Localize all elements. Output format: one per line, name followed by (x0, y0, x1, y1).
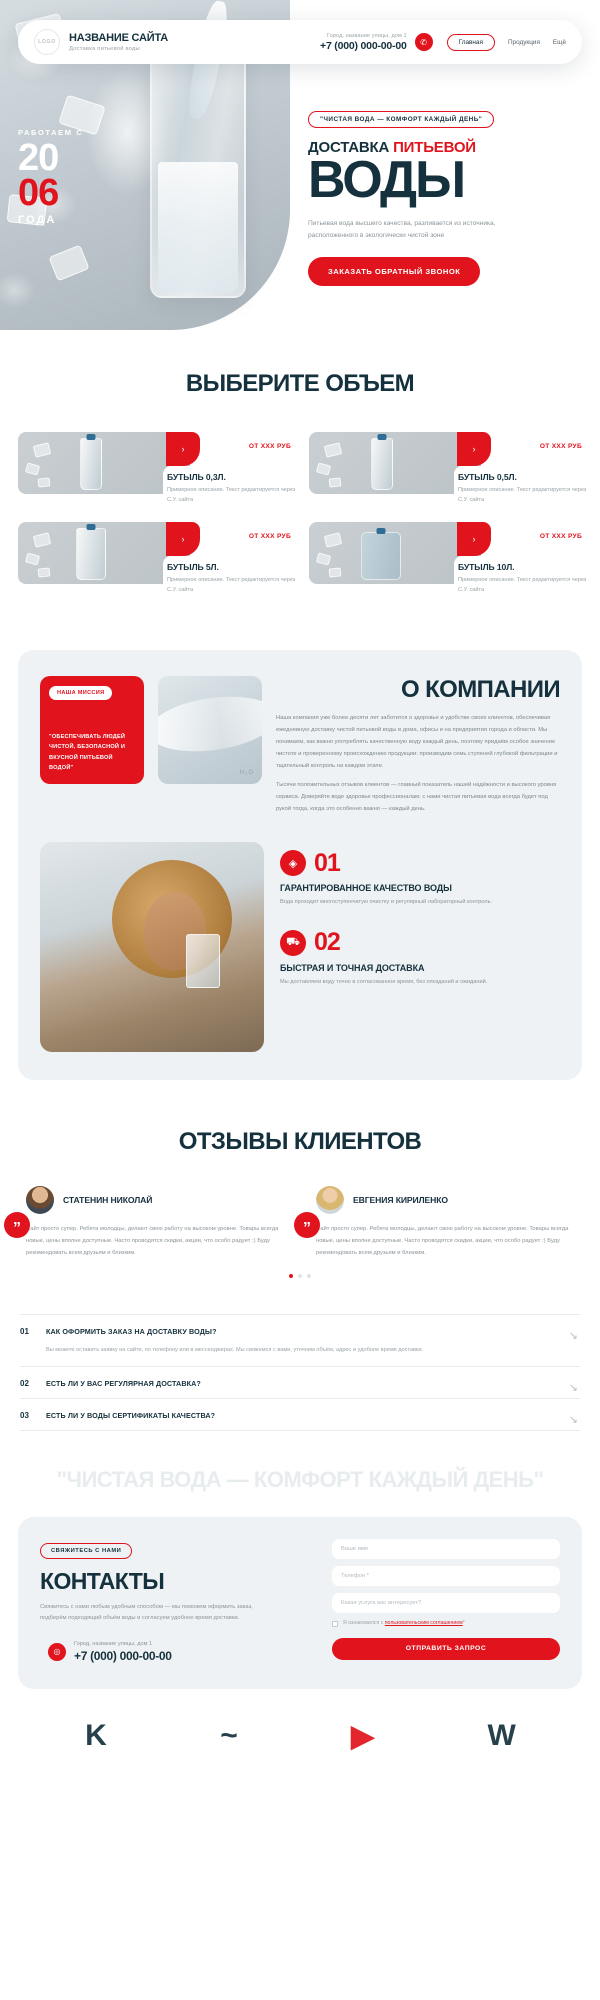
main-nav: Главная Продукция Ещё (447, 34, 566, 51)
feature-title: ГАРАНТИРОВАННОЕ КАЧЕСТВО ВОДЫ (280, 883, 560, 893)
contacts-description: Свяжитесь с нами любым удобным способом … (40, 1602, 256, 1625)
product-card[interactable]: › ОТ XXX РУБ БУТЫЛЬ 5Л. Примерное описан… (18, 522, 291, 598)
product-info: БУТЫЛЬ 0,3Л. Примерное описание. Текст р… (163, 466, 303, 506)
nav-item-more[interactable]: Ещё (553, 39, 566, 46)
brand: НАЗВАНИЕ САЙТА Доставка питьевой воды (69, 32, 168, 52)
product-name: БУТЫЛЬ 0,3Л. (167, 472, 303, 482)
feature-head: ◈ 01 (280, 850, 560, 876)
arrow-down-right-icon[interactable]: ↘ (569, 1329, 578, 1342)
reviews-section: ОТЗЫВЫ КЛИЕНТОВ ” СТАТЕНИН НИКОЛАЙ Сайт … (0, 1128, 600, 1278)
ice-cube (33, 442, 51, 458)
ice-cube (38, 567, 51, 577)
faq-answer: Вы можете оставить заявку на сайте, по т… (20, 1345, 580, 1356)
partner-logo: ~ (220, 1719, 237, 1753)
faq-question-row[interactable]: 03 ЕСТЬ ЛИ У ВОДЫ СЕРТИФИКАТЫ КАЧЕСТВА? (20, 1411, 580, 1420)
chevron-right-icon[interactable]: › (457, 432, 491, 466)
map-pin-icon: ◎ (48, 1643, 66, 1661)
product-name: БУТЫЛЬ 0,5Л. (458, 472, 594, 482)
partner-logo: ▶ (351, 1719, 373, 1754)
review-head: ЕВГЕНИЯ КИРИЛЕНКО (316, 1186, 580, 1214)
slogan-banner: "ЧИСТАЯ ВОДА — КОМФОРТ КАЖДЫЙ ДЕНЬ" (0, 1467, 600, 1493)
contacts-title: КОНТАКТЫ (40, 1568, 312, 1595)
ice-cube (48, 245, 89, 282)
nav-item-products[interactable]: Продукция (508, 39, 540, 46)
about-photo (40, 842, 264, 1052)
ice-cube (25, 462, 40, 475)
contact-form: Ваше имя Телефон * Какая услуга вас инте… (332, 1539, 560, 1663)
feature-desc: Вода проходит многоступенчатую очистку и… (280, 897, 560, 908)
nav-item-home[interactable]: Главная (447, 34, 495, 51)
faq-number: 02 (20, 1379, 32, 1388)
review-text: Сайт просто супер. Ребята молодцы, делаю… (316, 1223, 580, 1260)
carousel-dots (0, 1274, 600, 1278)
hero-since-block: РАБОТАЕМ С 20 06 ГОДА (18, 128, 83, 226)
product-price: ОТ XXX РУБ (540, 533, 582, 540)
contacts-section: СВЯЖИТЕСЬ С НАМИ КОНТАКТЫ Свяжитесь с на… (18, 1517, 582, 1689)
about-lower: ◈ 01 ГАРАНТИРОВАННОЕ КАЧЕСТВО ВОДЫ Вода … (40, 842, 560, 1052)
logo-icon[interactable]: LOGO (34, 29, 60, 55)
bottle-icon (371, 438, 393, 490)
works-since-label: РАБОТАЕМ С (18, 128, 83, 137)
product-desc: Примерное описание. Текст редактируется … (167, 575, 303, 596)
year-bottom: 06 (18, 176, 83, 211)
ice-cube (316, 462, 331, 475)
faq-row[interactable]: 01 КАК ОФОРМИТЬ ЗАКАЗ НА ДОСТАВКУ ВОДЫ? … (20, 1314, 580, 1366)
year-top: 20 (18, 141, 83, 176)
ice-cube (324, 532, 342, 548)
product-name: БУТЫЛЬ 5Л. (167, 562, 303, 572)
product-card[interactable]: › ОТ XXX РУБ БУТЫЛЬ 0,3Л. Примерное опис… (18, 432, 291, 508)
consent-link[interactable]: пользовательским соглашением (385, 1620, 463, 1626)
feature-title: БЫСТРАЯ И ТОЧНАЯ ДОСТАВКА (280, 963, 560, 973)
quote-icon: ” (4, 1212, 30, 1238)
review-head: СТАТЕНИН НИКОЛАЙ (26, 1186, 290, 1214)
feature-number: 02 (314, 930, 340, 955)
ice-cube (25, 552, 40, 565)
carousel-dot[interactable] (298, 1274, 302, 1278)
chevron-right-icon[interactable]: › (457, 522, 491, 556)
year-suffix: ГОДА (18, 214, 83, 226)
products-section: ВЫБЕРИТЕ ОБЪЕМ › ОТ XXX РУБ БУТЫЛЬ 0,3Л.… (0, 330, 600, 598)
phone-icon[interactable]: ✆ (415, 33, 433, 51)
quote-icon: ” (294, 1212, 320, 1238)
product-info: БУТЫЛЬ 10Л. Примерное описание. Текст ре… (454, 556, 594, 596)
service-field[interactable]: Какая услуга вас интересует? (332, 1593, 560, 1613)
consent-checkbox[interactable] (332, 1621, 338, 1627)
consent-label: Я ознакомился с пользовательским соглаше… (343, 1620, 465, 1628)
faq-question: ЕСТЬ ЛИ У ВАС РЕГУЛЯРНАЯ ДОСТАВКА? (46, 1379, 201, 1388)
arrow-down-right-icon[interactable]: ↘ (569, 1381, 578, 1394)
hero-badge: "ЧИСТАЯ ВОДА — КОМФОРТ КАЖДЫЙ ДЕНЬ" (308, 111, 494, 128)
hero-title: ВОДЫ (308, 157, 576, 205)
product-price: ОТ XXX РУБ (540, 443, 582, 450)
contacts-phone[interactable]: +7 (000) 000-00-00 (74, 1649, 172, 1663)
avatar (26, 1186, 54, 1214)
submit-button[interactable]: ОТПРАВИТЬ ЗАПРОС (332, 1638, 560, 1660)
site-header: LOGO НАЗВАНИЕ САЙТА Доставка питьевой во… (18, 20, 582, 64)
faq-question-row[interactable]: 01 КАК ОФОРМИТЬ ЗАКАЗ НА ДОСТАВКУ ВОДЫ? (20, 1327, 580, 1336)
phone-field[interactable]: Телефон * (332, 1566, 560, 1586)
faq-question-row[interactable]: 02 ЕСТЬ ЛИ У ВАС РЕГУЛЯРНАЯ ДОСТАВКА? (20, 1379, 580, 1388)
product-desc: Примерное описание. Текст редактируется … (458, 485, 594, 506)
mission-box: НАША МИССИЯ "ОБЕСПЕЧИВАТЬ ЛЮДЕЙ ЧИСТОЙ, … (40, 676, 144, 784)
hero-cta-button[interactable]: ЗАКАЗАТЬ ОБРАТНЫЙ ЗВОНОК (308, 257, 480, 286)
splash-watermark: H₂O (240, 770, 254, 776)
product-info: БУТЫЛЬ 5Л. Примерное описание. Текст ред… (163, 556, 303, 596)
header-address: Город, название улицы, дом 1 (320, 33, 407, 39)
review-author: ЕВГЕНИЯ КИРИЛЕНКО (353, 1195, 448, 1205)
bottle-icon (80, 438, 102, 490)
ice-cube (33, 532, 51, 548)
about-title: О КОМПАНИИ (276, 676, 560, 704)
products-grid: › ОТ XXX РУБ БУТЫЛЬ 0,3Л. Примерное опис… (18, 432, 582, 598)
product-info: БУТЫЛЬ 0,5Л. Примерное описание. Текст р… (454, 466, 594, 506)
partners-strip: K ~ ▶ W (0, 1719, 600, 1754)
faq-question: ЕСТЬ ЛИ У ВОДЫ СЕРТИФИКАТЫ КАЧЕСТВА? (46, 1411, 215, 1420)
about-top: НАША МИССИЯ "ОБЕСПЕЧИВАТЬ ЛЮДЕЙ ЧИСТОЙ, … (40, 676, 560, 824)
about-section: НАША МИССИЯ "ОБЕСПЕЧИВАТЬ ЛЮДЕЙ ЧИСТОЙ, … (18, 650, 582, 1080)
consent-suffix: * (463, 1620, 465, 1626)
hero-content: "ЧИСТАЯ ВОДА — КОМФОРТ КАЖДЫЙ ДЕНЬ" ДОСТ… (308, 108, 576, 286)
water-glass (150, 28, 246, 298)
contacts-phone-block: ◎ Город, название улицы, дом 1 +7 (000) … (40, 1641, 312, 1663)
product-price: ОТ XXX РУБ (249, 443, 291, 450)
consent-row[interactable]: Я ознакомился с пользовательским соглаше… (332, 1620, 560, 1628)
hero-description: Питьевая вода высшего качества, разливае… (308, 218, 508, 243)
header-phone[interactable]: +7 (000) 000-00-00 (320, 40, 407, 52)
mission-text: "ОБЕСПЕЧИВАТЬ ЛЮДЕЙ ЧИСТОЙ, БЕЗОПАСНОЙ И… (49, 732, 135, 775)
chevron-right-icon[interactable]: › (166, 432, 200, 466)
product-desc: Примерное описание. Текст редактируется … (167, 485, 303, 506)
feature-number: 01 (314, 851, 340, 876)
features-list: ◈ 01 ГАРАНТИРОВАННОЕ КАЧЕСТВО ВОДЫ Вода … (280, 842, 560, 1052)
faq-row[interactable]: 03 ЕСТЬ ЛИ У ВОДЫ СЕРТИФИКАТЫ КАЧЕСТВА? … (20, 1398, 580, 1431)
bottle-icon (76, 528, 106, 580)
reviews-grid: ” СТАТЕНИН НИКОЛАЙ Сайт просто супер. Ре… (20, 1186, 580, 1260)
feature-head: ⛟ 02 (280, 930, 560, 956)
contacts-address: Город, название улицы, дом 1 (74, 1641, 172, 1647)
header-contact: Город, название улицы, дом 1 +7 (000) 00… (320, 33, 407, 52)
mission-badge: НАША МИССИЯ (49, 686, 112, 700)
landing-page: РАБОТАЕМ С 20 06 ГОДА "ЧИСТАЯ ВОДА — КОМ… (0, 0, 600, 2000)
bottle-icon (361, 532, 401, 580)
product-name: БУТЫЛЬ 10Л. (458, 562, 594, 572)
arrow-down-right-icon[interactable]: ↘ (569, 1413, 578, 1426)
ice-cube (329, 477, 342, 487)
hero-section: РАБОТАЕМ С 20 06 ГОДА "ЧИСТАЯ ВОДА — КОМ… (0, 0, 600, 330)
product-price: ОТ XXX РУБ (249, 533, 291, 540)
review-card: ” ЕВГЕНИЯ КИРИЛЕНКО Сайт просто супер. Р… (310, 1186, 580, 1260)
review-card: ” СТАТЕНИН НИКОЛАЙ Сайт просто супер. Ре… (20, 1186, 290, 1260)
about-paragraph-1: Наша компания уже более десяти лет забот… (276, 713, 560, 772)
product-desc: Примерное описание. Текст редактируется … (458, 575, 594, 596)
name-field[interactable]: Ваше имя (332, 1539, 560, 1559)
product-card[interactable]: › ОТ XXX РУБ БУТЫЛЬ 10Л. Примерное описа… (309, 522, 582, 598)
carousel-dot[interactable] (289, 1274, 293, 1278)
about-copy: О КОМПАНИИ Наша компания уже более десят… (276, 676, 560, 824)
faq-number: 03 (20, 1411, 32, 1420)
feature-item: ⛟ 02 БЫСТРАЯ И ТОЧНАЯ ДОСТАВКА Мы достав… (280, 930, 560, 988)
shield-water-icon: ◈ (280, 850, 306, 876)
ice-cube (324, 442, 342, 458)
carousel-dot[interactable] (307, 1274, 311, 1278)
consent-prefix: Я ознакомился с (343, 1620, 385, 1626)
products-title: ВЫБЕРИТЕ ОБЪЕМ (18, 370, 582, 398)
partner-logo: W (487, 1719, 514, 1753)
partner-logo: K (85, 1719, 106, 1753)
product-card[interactable]: › ОТ XXX РУБ БУТЫЛЬ 0,5Л. Примерное опис… (309, 432, 582, 508)
delivery-truck-icon: ⛟ (280, 930, 306, 956)
water-splash-image: H₂O (158, 676, 262, 784)
brand-tagline: Доставка питьевой воды (69, 46, 168, 52)
contacts-info: СВЯЖИТЕСЬ С НАМИ КОНТАКТЫ Свяжитесь с на… (40, 1539, 312, 1663)
faq-row[interactable]: 02 ЕСТЬ ЛИ У ВАС РЕГУЛЯРНАЯ ДОСТАВКА? ↘ (20, 1366, 580, 1398)
faq-number: 01 (20, 1327, 32, 1336)
ice-cube (316, 552, 331, 565)
feature-item: ◈ 01 ГАРАНТИРОВАННОЕ КАЧЕСТВО ВОДЫ Вода … (280, 850, 560, 908)
contacts-badge: СВЯЖИТЕСЬ С НАМИ (40, 1543, 132, 1559)
ice-cube (329, 567, 342, 577)
about-paragraph-2: Тысячи положительных отзывов клиентов — … (276, 780, 560, 816)
ice-cube (38, 477, 51, 487)
feature-desc: Мы доставляем воду точно в согласованное… (280, 977, 560, 988)
faq-question: КАК ОФОРМИТЬ ЗАКАЗ НА ДОСТАВКУ ВОДЫ? (46, 1327, 217, 1336)
avatar (316, 1186, 344, 1214)
review-author: СТАТЕНИН НИКОЛАЙ (63, 1195, 152, 1205)
review-text: Сайт просто супер. Ребята молодцы, делаю… (26, 1223, 290, 1260)
reviews-title: ОТЗЫВЫ КЛИЕНТОВ (0, 1128, 600, 1156)
brand-name: НАЗВАНИЕ САЙТА (69, 32, 168, 44)
chevron-right-icon[interactable]: › (166, 522, 200, 556)
faq-section: 01 КАК ОФОРМИТЬ ЗАКАЗ НА ДОСТАВКУ ВОДЫ? … (20, 1314, 580, 1431)
